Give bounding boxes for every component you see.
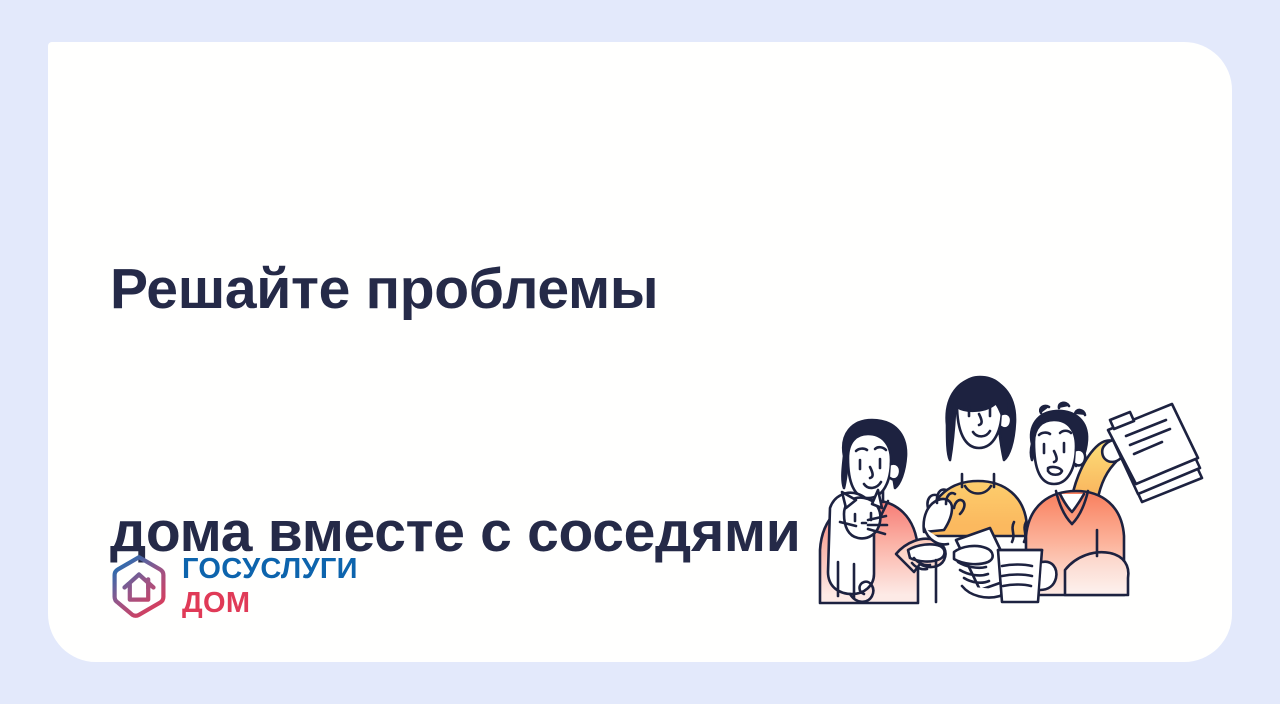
brand-word-gosuslugi: Госуслуги (182, 555, 358, 584)
brand-word-dom: Дом (182, 589, 358, 618)
house-in-hexagon-icon (110, 554, 168, 618)
three-neighbours-illustration: Три соседа: женщина с кошкой, женщина в … (810, 350, 1210, 650)
brand-logo[interactable]: Госуслуги Дом (110, 554, 358, 618)
headline-line-1: Решайте проблемы (110, 249, 801, 330)
promo-card[interactable]: Решайте проблемы дома вместе с соседями (48, 42, 1232, 662)
brand-wordmark: Госуслуги Дом (182, 555, 358, 618)
promo-banner: Решайте проблемы дома вместе с соседями (0, 0, 1280, 704)
